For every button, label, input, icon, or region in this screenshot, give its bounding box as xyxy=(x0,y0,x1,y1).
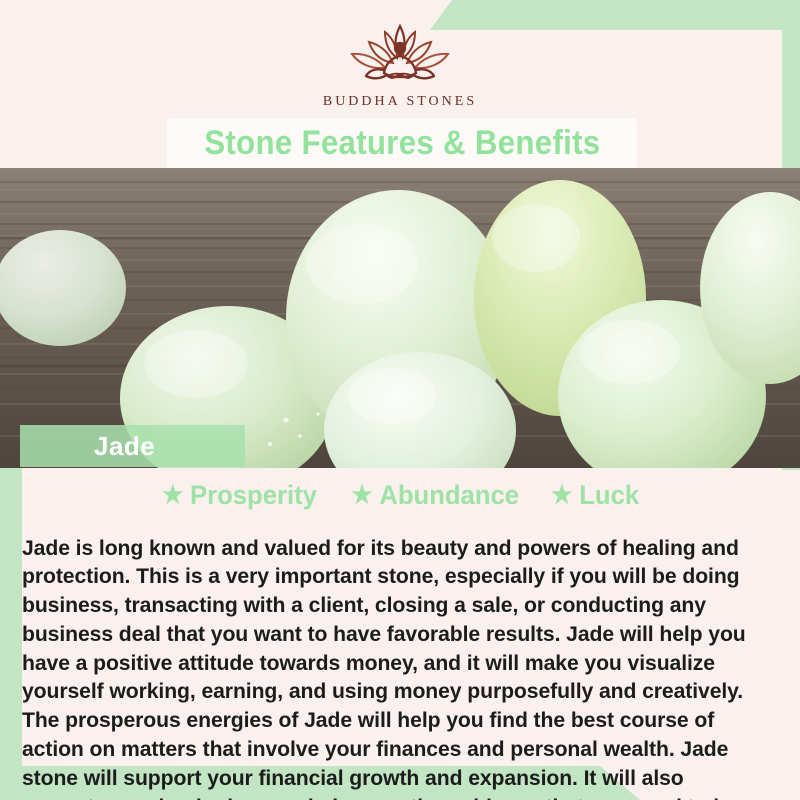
keyword-label: Prosperity xyxy=(190,480,317,511)
keyword-luck: ★ Luck xyxy=(552,480,640,511)
star-icon: ★ xyxy=(351,483,372,508)
stone-name-bar: Jade xyxy=(20,425,245,467)
decor-green-left-lower-stripe xyxy=(0,440,22,770)
logo-block: BUDDHA STONES xyxy=(0,18,800,110)
title-banner: Stone Features & Benefits xyxy=(167,118,637,168)
star-icon: ★ xyxy=(552,483,573,508)
stone-name-label: Jade xyxy=(20,431,155,462)
keyword-list: ★ Prosperity ★ Abundance ★ Luck xyxy=(22,478,778,512)
keyword-abundance: ★ Abundance xyxy=(351,480,519,511)
infographic-card: BUDDHA STONES Stone Features & Benefits xyxy=(0,0,800,800)
keyword-label: Abundance xyxy=(379,480,519,511)
jade-tumbled-stones-photo xyxy=(0,168,800,468)
stone-description: Jade is long known and valued for its be… xyxy=(22,534,773,800)
brand-header: BUDDHA STONES xyxy=(0,0,800,120)
brand-name: BUDDHA STONES xyxy=(0,94,800,110)
lotus-meditation-icon xyxy=(325,18,475,90)
keyword-prosperity: ★ Prosperity xyxy=(162,480,317,511)
page-title: Stone Features & Benefits xyxy=(204,124,600,163)
star-icon: ★ xyxy=(162,483,183,508)
keyword-label: Luck xyxy=(580,480,640,511)
